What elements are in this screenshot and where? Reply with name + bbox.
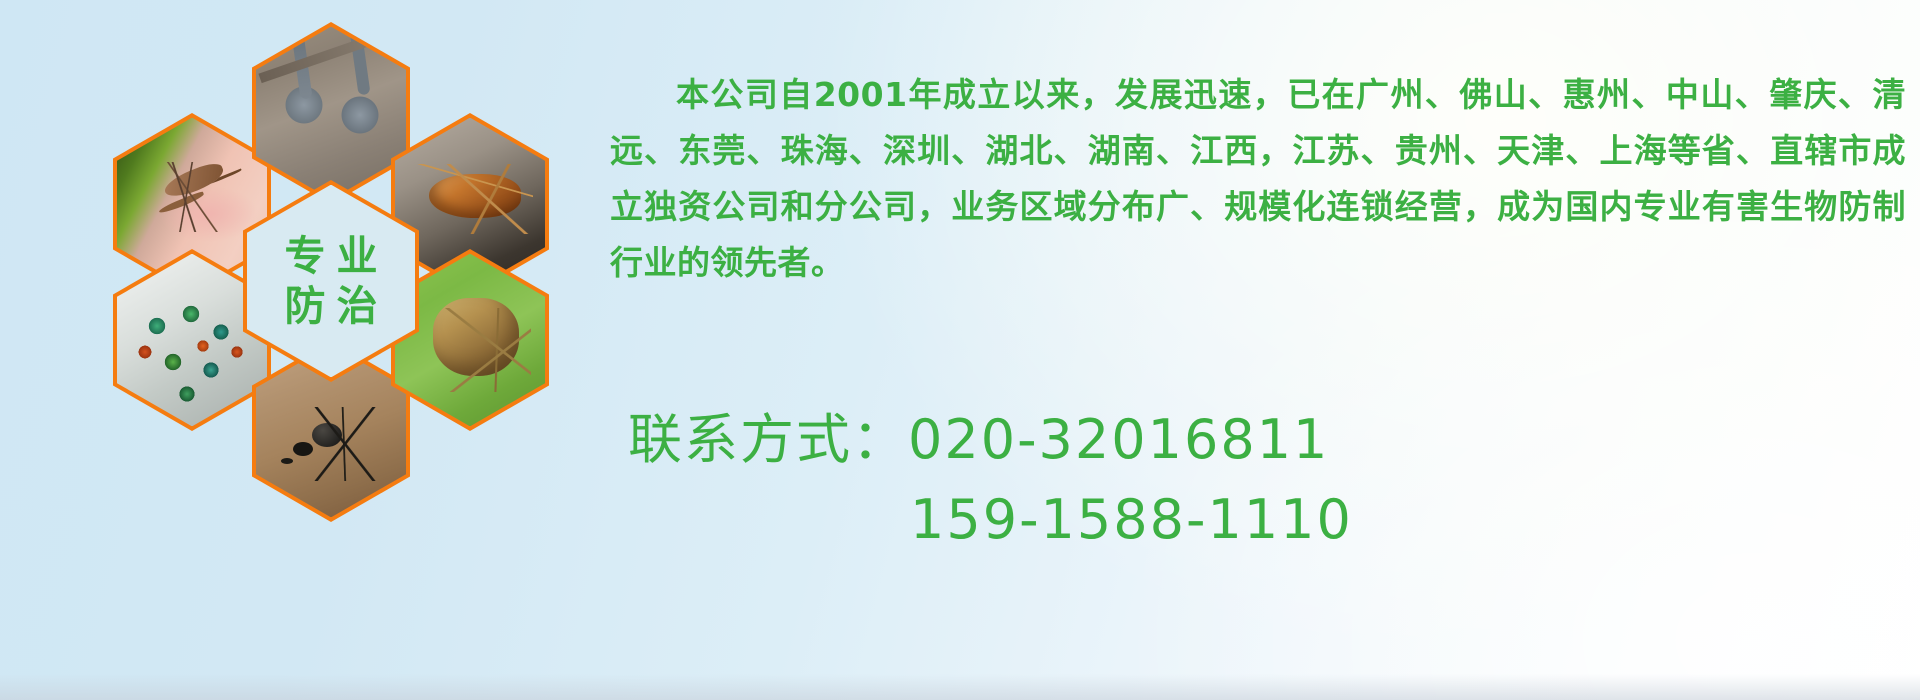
slogan-text: 专业 防治 — [247, 185, 415, 378]
contact-phone-primary[interactable]: 020-32016811 — [908, 408, 1329, 471]
promo-banner: 专业 防治 本公司自2001年成立以来，发展迅速，已在广州、佛山、惠州、中山、肇… — [0, 0, 1920, 700]
company-description-paragraph: 本公司自2001年成立以来，发展迅速，已在广州、佛山、惠州、中山、肇庆、清远、东… — [610, 67, 1906, 291]
contact-block: 联系方式：020-32016811 159-1588-1110 — [622, 400, 1912, 560]
hex-inner-slogan: 专业 防治 — [247, 185, 415, 378]
contact-label: 联系方式： — [628, 408, 908, 471]
honeycomb-gallery: 专业 防治 — [0, 0, 620, 700]
hex-cell-rats[interactable] — [252, 22, 410, 204]
hex-inner-rats — [256, 27, 406, 200]
content-column: 本公司自2001年成立以来，发展迅速，已在广州、佛山、惠州、中山、肇庆、清远、东… — [600, 0, 1920, 700]
rats-photo — [256, 27, 406, 200]
contact-phone-secondary[interactable]: 159-1588-1110 — [910, 488, 1353, 551]
contact-secondary-line: 159-1588-1110 — [622, 480, 1912, 560]
slogan-line-1: 专业 — [274, 234, 389, 278]
contact-primary-line: 联系方式：020-32016811 — [622, 400, 1912, 480]
slogan-line-2: 防治 — [274, 284, 389, 328]
